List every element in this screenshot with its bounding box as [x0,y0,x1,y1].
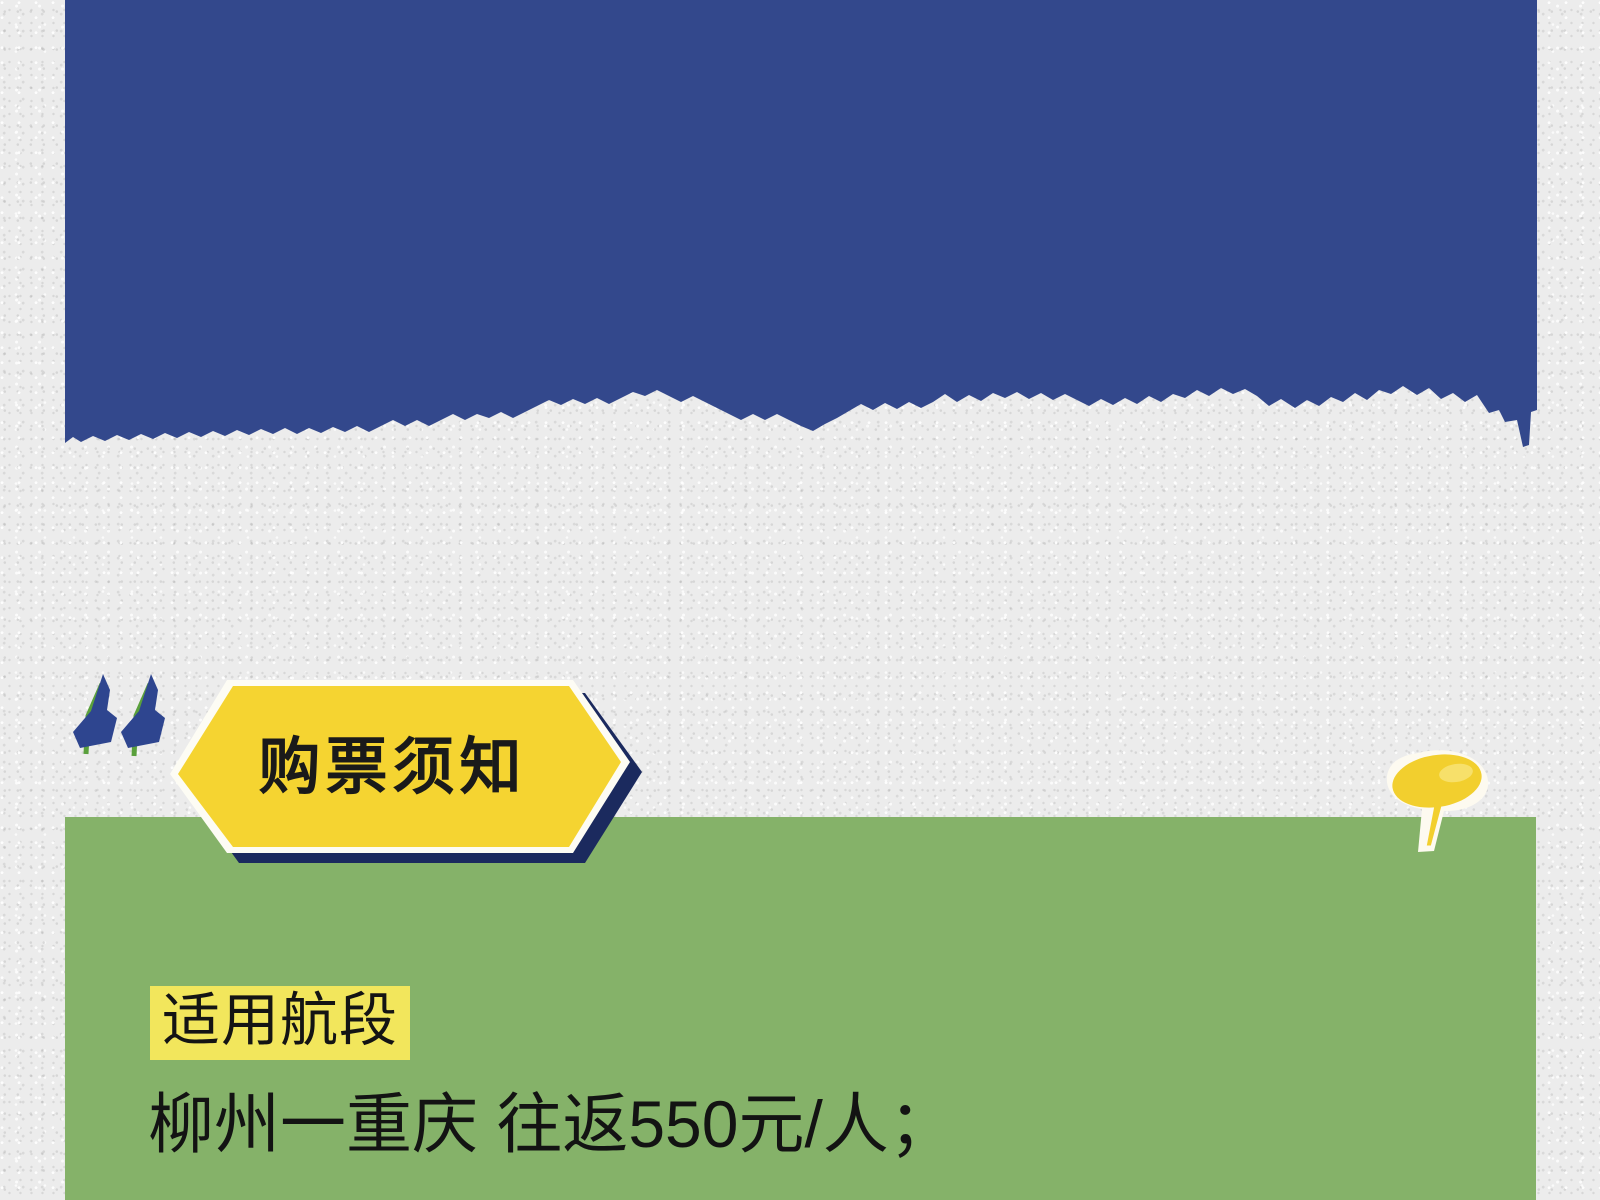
fare-line-liuzhou-chongqing: 柳州一重庆 往返550元/人； [148,1083,955,1166]
quote-glyph-left [73,674,117,748]
pushpin-icon [1382,748,1492,853]
poster-canvas: 购票须知 适用航段 柳州一重庆 往返550元/人； [0,0,1600,1200]
blue-banner [65,0,1537,455]
title-ribbon: 购票须知 [155,672,650,872]
quote-mark-icon [66,668,168,760]
blue-banner-shape [65,0,1537,447]
section-tag-applicable-routes: 适用航段 [150,986,410,1060]
title-ribbon-label: 购票须知 [155,672,625,850]
